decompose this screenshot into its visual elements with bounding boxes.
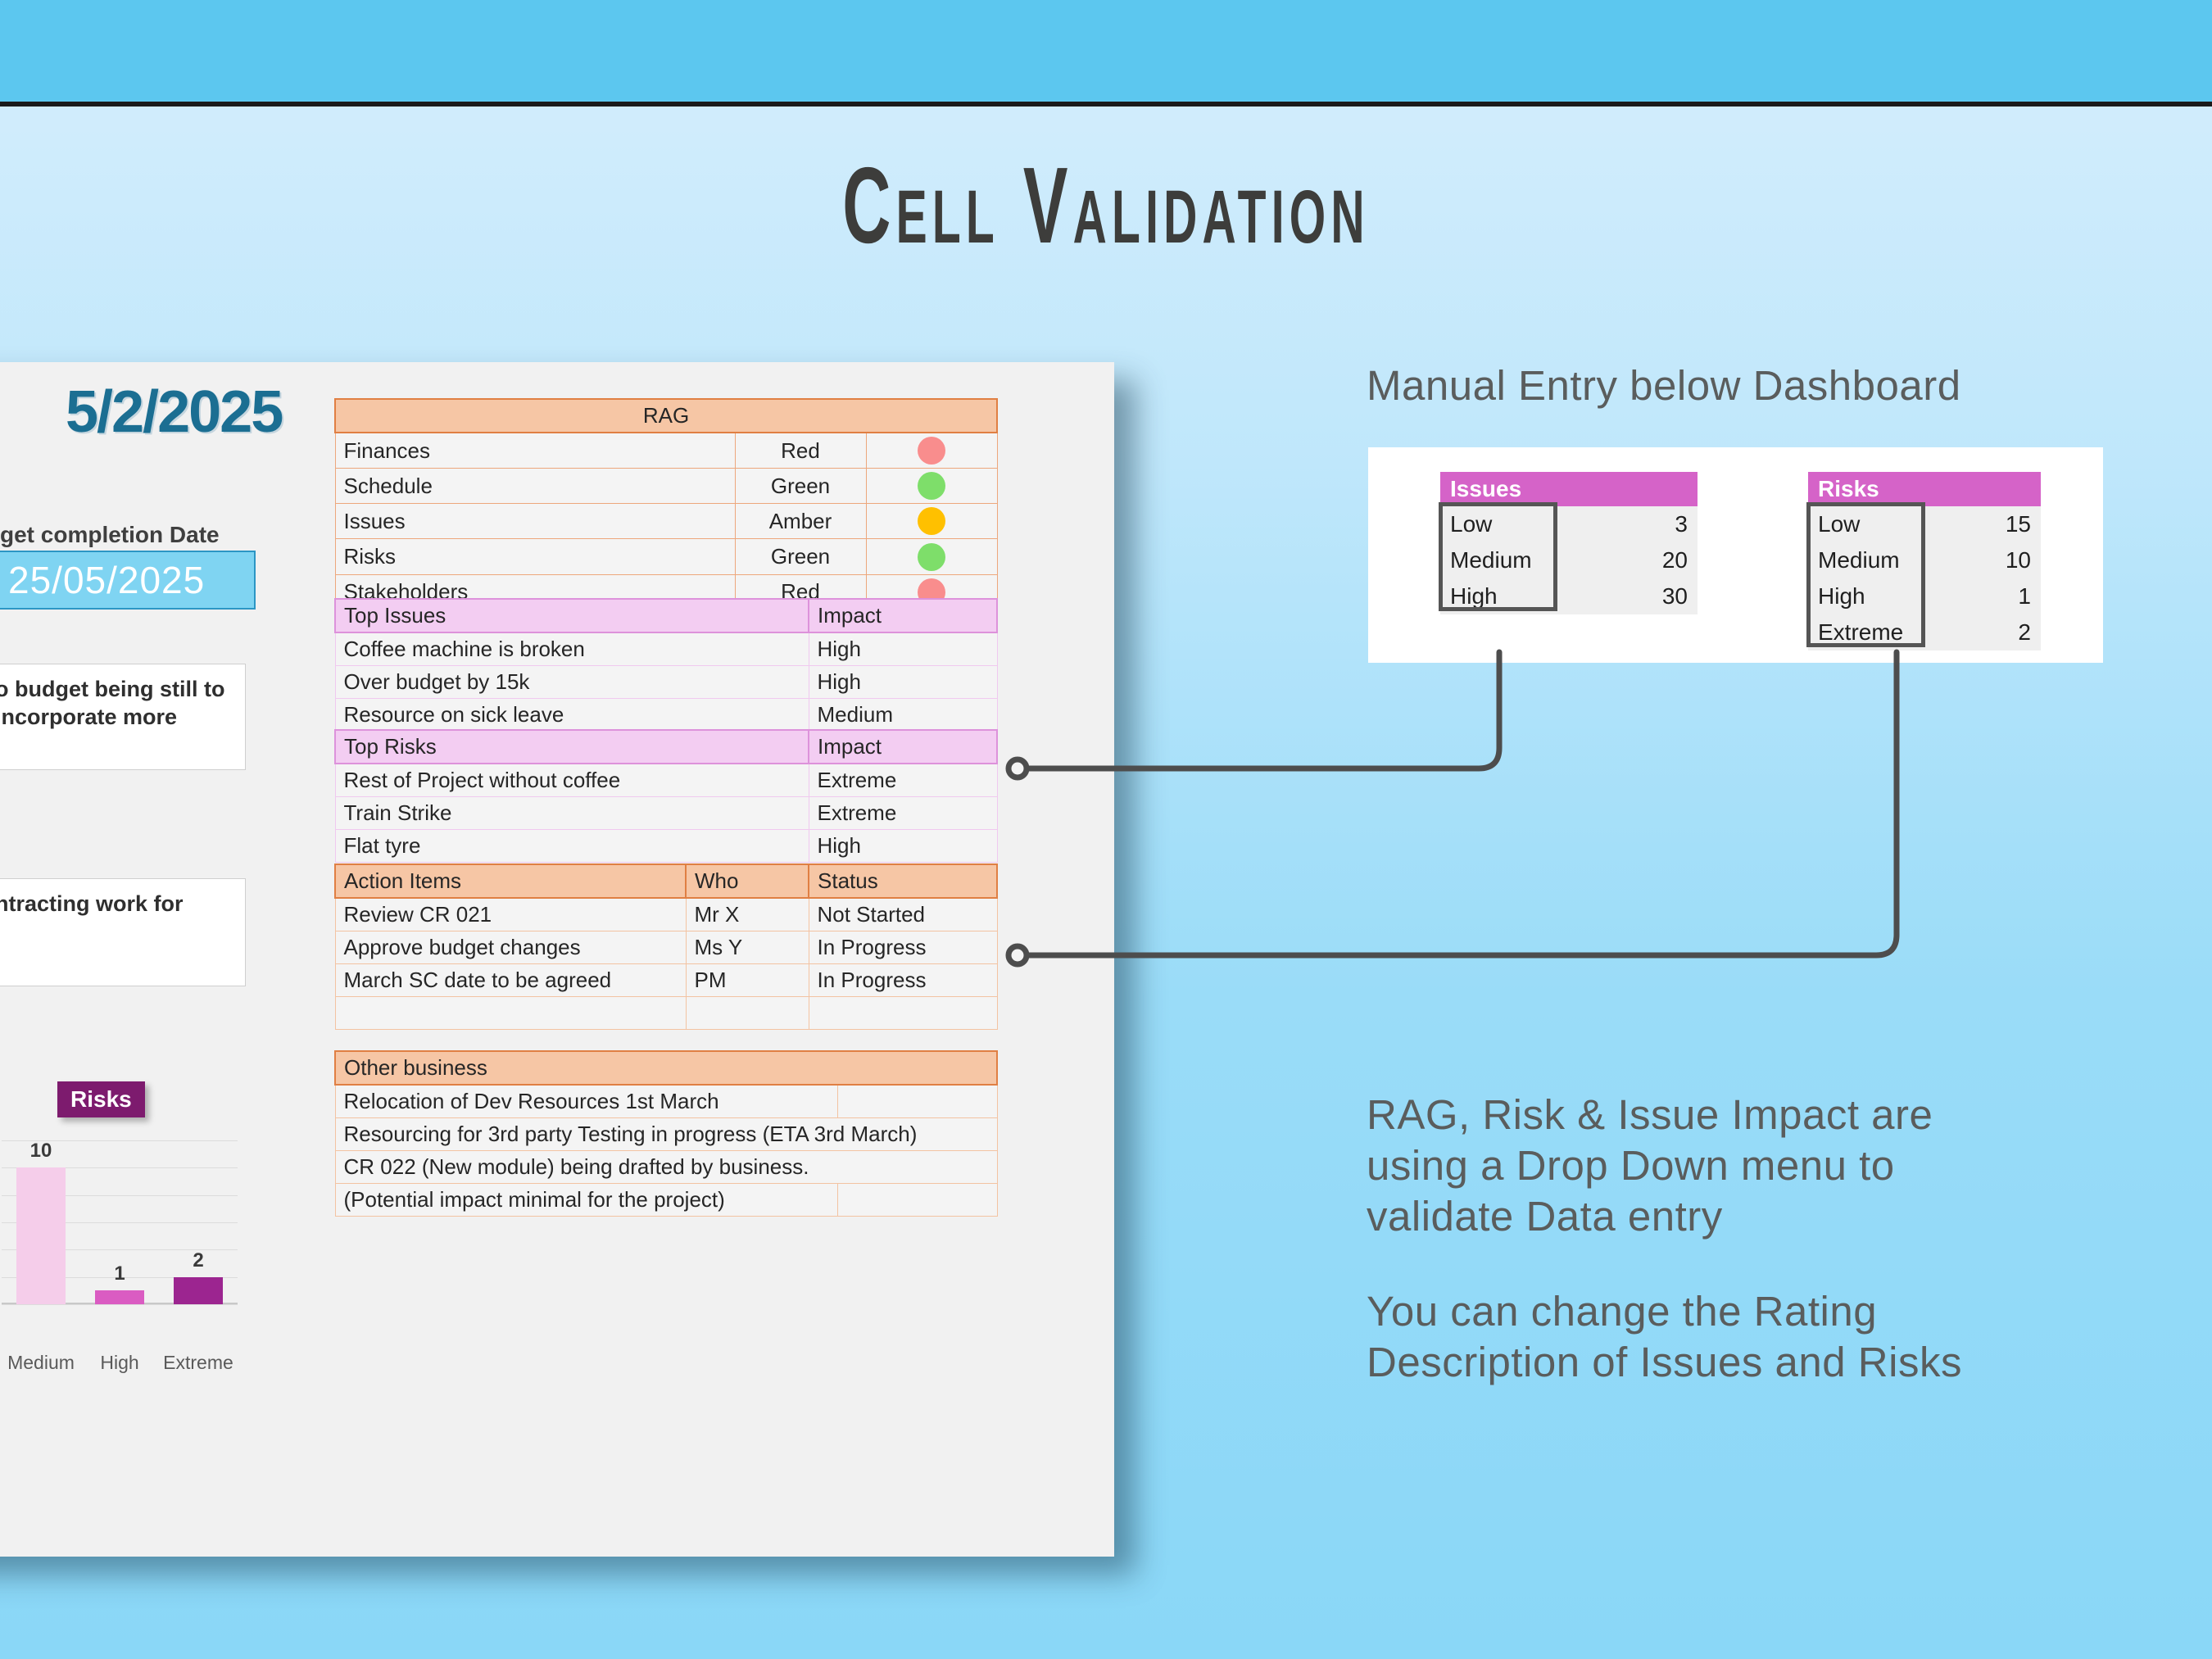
table-row: March SC date to be agreedPMIn Progress bbox=[335, 964, 997, 997]
issues-entry-value[interactable]: 30 bbox=[1575, 578, 1698, 614]
target-completion-label: get completion Date bbox=[0, 522, 220, 548]
chart-bar bbox=[16, 1167, 66, 1304]
rag-item-status[interactable]: Red bbox=[735, 433, 866, 469]
table-row: ScheduleGreen bbox=[335, 469, 997, 504]
chart-bar bbox=[95, 1290, 144, 1304]
rag-item-name: Risks bbox=[335, 539, 735, 574]
other-business-item: (Potential impact minimal for the projec… bbox=[335, 1184, 837, 1217]
action-text: March SC date to be agreed bbox=[335, 964, 686, 997]
table-row: RisksGreen bbox=[335, 539, 997, 574]
table-row: CR 022 (New module) being drafted by bus… bbox=[335, 1151, 997, 1184]
chart-title: Risks bbox=[57, 1081, 145, 1117]
action-status[interactable]: Not Started bbox=[809, 898, 997, 931]
table-row: Approve budget changesMs YIn Progress bbox=[335, 931, 997, 964]
other-business-item: Resourcing for 3rd party Testing in prog… bbox=[335, 1118, 997, 1151]
note-box-contracting: ntracting work for bbox=[0, 878, 246, 986]
risks-connector bbox=[1020, 652, 1897, 955]
other-business-item: Relocation of Dev Resources 1st March bbox=[335, 1085, 837, 1118]
top-issue-impact-header: Impact bbox=[809, 599, 997, 632]
table-row: Relocation of Dev Resources 1st March bbox=[335, 1085, 997, 1118]
top-issue-text: Coffee machine is broken bbox=[335, 632, 809, 666]
top-risk-header: Top Risks bbox=[335, 730, 809, 764]
table-row: Coffee machine is brokenHigh bbox=[335, 632, 997, 666]
table-row: Action ItemsWhoStatus bbox=[335, 864, 997, 898]
dropdown-note: RAG, Risk & Issue Impact are using a Dro… bbox=[1367, 1090, 2014, 1243]
rag-item-name: Issues bbox=[335, 504, 735, 539]
table-row: RAG bbox=[335, 399, 997, 433]
table-row: Issues bbox=[1440, 472, 1698, 506]
risks-entry-value[interactable]: 2 bbox=[1918, 614, 2041, 650]
report-date: 5/2/2025 bbox=[66, 378, 282, 446]
action-text: Review CR 021 bbox=[335, 898, 686, 931]
action-text bbox=[335, 997, 686, 1030]
rag-item-name: Schedule bbox=[335, 469, 735, 504]
top-issue-impact[interactable]: High bbox=[809, 666, 997, 699]
risks-entry-value[interactable]: 1 bbox=[1918, 578, 2041, 614]
top-issue-impact[interactable]: High bbox=[809, 632, 997, 666]
action-status-header: Status bbox=[809, 864, 997, 898]
table-row: Top IssuesImpact bbox=[335, 599, 997, 632]
rag-header: RAG bbox=[335, 399, 997, 433]
rag-item-name: Finances bbox=[335, 433, 735, 469]
table-row: IssuesAmber bbox=[335, 504, 997, 539]
top-issue-text: Over budget by 15k bbox=[335, 666, 809, 699]
top-risk-impact[interactable]: Extreme bbox=[809, 764, 997, 797]
table-row: Risks bbox=[1808, 472, 2041, 506]
rag-item-status[interactable]: Amber bbox=[735, 504, 866, 539]
other-business-item: CR 022 (New module) being drafted by bus… bbox=[335, 1151, 997, 1184]
risks-bar-chart: Risks 12108642010Medium1High2Extreme bbox=[0, 1099, 270, 1362]
table-row: Flat tyreHigh bbox=[335, 830, 997, 863]
action-who: Ms Y bbox=[686, 931, 809, 964]
action-status[interactable]: In Progress bbox=[809, 964, 997, 997]
top-risk-impact[interactable]: High bbox=[809, 830, 997, 863]
other-business-header: Other business bbox=[335, 1051, 997, 1085]
action-who-header: Who bbox=[686, 864, 809, 898]
issues-selection-box[interactable] bbox=[1439, 502, 1557, 611]
table-row: (Potential impact minimal for the projec… bbox=[335, 1184, 997, 1217]
top-issue-header: Top Issues bbox=[335, 599, 809, 632]
table-row: Rest of Project without coffeeExtreme bbox=[335, 764, 997, 797]
action-who bbox=[686, 997, 809, 1030]
risks-selection-box[interactable] bbox=[1806, 502, 1925, 647]
chart-bar bbox=[174, 1277, 223, 1304]
banner-divider bbox=[0, 102, 2212, 107]
manual-entry-caption: Manual Entry below Dashboard bbox=[1367, 360, 1961, 411]
top-risk-text: Rest of Project without coffee bbox=[335, 764, 809, 797]
issues-entry-header: Issues bbox=[1440, 472, 1698, 506]
action-status[interactable] bbox=[809, 997, 997, 1030]
risks-entry-value[interactable]: 10 bbox=[1918, 542, 2041, 578]
table-row: FinancesRed bbox=[335, 433, 997, 469]
table-row: Over budget by 15kHigh bbox=[335, 666, 997, 699]
top-risk-impact[interactable]: Extreme bbox=[809, 797, 997, 830]
dashboard-panel: 5/2/2025 get completion Date 25/05/2025 … bbox=[0, 362, 1114, 1557]
rag-status-indicator bbox=[866, 469, 997, 504]
chart-plot-area: 12108642010Medium1High2Extreme bbox=[2, 1140, 238, 1304]
target-completion-field[interactable]: 25/05/2025 bbox=[0, 551, 256, 610]
chart-bar-label: 2 bbox=[174, 1249, 223, 1272]
top-risk-text: Train Strike bbox=[335, 797, 809, 830]
action-items-header: Action Items bbox=[335, 864, 686, 898]
other-business-blank bbox=[837, 1085, 997, 1118]
issues-entry-value[interactable]: 20 bbox=[1575, 542, 1698, 578]
table-row: Top RisksImpact bbox=[335, 730, 997, 764]
table-row: Resource on sick leaveMedium bbox=[335, 699, 997, 732]
rating-note: You can change the Rating Description of… bbox=[1367, 1286, 2022, 1388]
action-who: Mr X bbox=[686, 898, 809, 931]
action-text: Approve budget changes bbox=[335, 931, 686, 964]
table-row: Other business bbox=[335, 1051, 997, 1085]
top-issue-text: Resource on sick leave bbox=[335, 699, 809, 732]
top-banner bbox=[0, 0, 2212, 102]
action-who: PM bbox=[686, 964, 809, 997]
page-title: Cell Validation bbox=[420, 143, 1792, 267]
top-risk-impact-header: Impact bbox=[809, 730, 997, 764]
top-issues-table: Top IssuesImpactCoffee machine is broken… bbox=[334, 598, 998, 732]
rag-item-status[interactable]: Green bbox=[735, 469, 866, 504]
rag-status-indicator bbox=[866, 504, 997, 539]
chart-bar-label: 10 bbox=[16, 1140, 66, 1163]
action-items-table: Action ItemsWhoStatusReview CR 021Mr XNo… bbox=[334, 863, 998, 1030]
table-row: Train StrikeExtreme bbox=[335, 797, 997, 830]
issues-entry-value[interactable]: 3 bbox=[1575, 506, 1698, 542]
rag-table: RAGFinancesRedScheduleGreenIssuesAmberRi… bbox=[334, 398, 998, 610]
rag-item-status[interactable]: Green bbox=[735, 539, 866, 574]
table-row: Resourcing for 3rd party Testing in prog… bbox=[335, 1118, 997, 1151]
other-business-table: Other businessRelocation of Dev Resource… bbox=[334, 1050, 998, 1217]
action-status[interactable]: In Progress bbox=[809, 931, 997, 964]
top-risk-text: Flat tyre bbox=[335, 830, 809, 863]
target-completion-value: 25/05/2025 bbox=[8, 558, 205, 602]
top-issue-impact[interactable]: Medium bbox=[809, 699, 997, 732]
risks-entry-value[interactable]: 15 bbox=[1918, 506, 2041, 542]
top-risks-table: Top RisksImpactRest of Project without c… bbox=[334, 729, 998, 863]
chart-bar-label: 1 bbox=[95, 1262, 144, 1285]
table-row: Review CR 021Mr XNot Started bbox=[335, 898, 997, 931]
rag-status-indicator bbox=[866, 433, 997, 469]
other-business-blank bbox=[837, 1184, 997, 1217]
risks-entry-header: Risks bbox=[1808, 472, 2041, 506]
table-row bbox=[335, 997, 997, 1030]
chart-x-tick: Extreme bbox=[147, 1352, 249, 1374]
note-box-budget: o budget being still to incorporate more bbox=[0, 664, 246, 770]
rag-status-indicator bbox=[866, 539, 997, 574]
